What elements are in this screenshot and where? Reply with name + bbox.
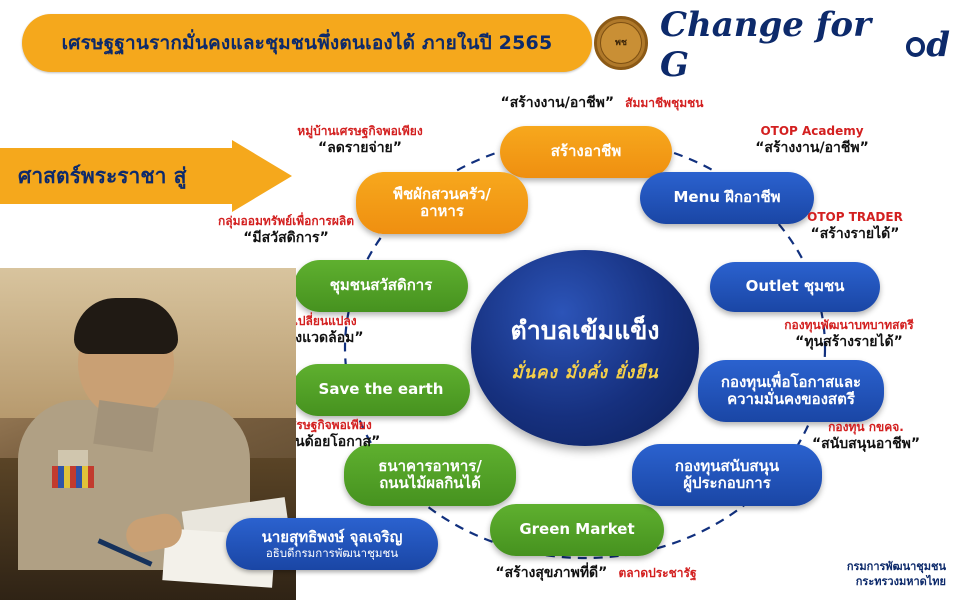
photo-collar (93, 400, 159, 452)
slogan-part-b: d (926, 25, 950, 65)
node-green-market[interactable]: Green Market (490, 504, 664, 556)
ann-reduce-expense: หมู่บ้านเศรษฐกิจพอเพียง “ลดรายจ่าย” (252, 124, 468, 157)
center-subtitle: มั่นคง มั่งคั่ง ยั่งยืน (511, 359, 658, 386)
ann-women-fund-red: กองทุนพัฒนาบทบาทสตรี (744, 318, 954, 333)
node-fund-support-entrepreneur[interactable]: กองทุนสนับสนุน ผู้ประกอบการ (632, 444, 822, 506)
ann-good-health-red: ตลาดประชารัฐ (618, 566, 696, 580)
slogan-part-a: Change for G (660, 5, 905, 85)
name-plate-position: อธิบดีกรมการพัฒนาชุมชน (266, 546, 398, 560)
node-outlet-community-label: Outlet ชุมชน (746, 278, 845, 295)
center-title: ตำบลเข้มแข็ง (511, 311, 660, 351)
node-food-bank[interactable]: ธนาคารอาหาร/ ถนนไม้ผลกินได้ (344, 444, 516, 506)
node-create-career[interactable]: สร้างอาชีพ (500, 126, 672, 178)
ann-good-health-black: “สร้างสุขภาพที่ดี” (495, 565, 607, 581)
node-food-bank-label: ธนาคารอาหาร/ ถนนไม้ผลกินได้ (378, 458, 482, 493)
ann-reduce-expense-red: หมู่บ้านเศรษฐกิจพอเพียง (252, 124, 468, 139)
node-outlet-community[interactable]: Outlet ชุมชน (710, 262, 880, 312)
footer-credit: กรมการพัฒนาชุมชน กระทรวงมหาดไทย (847, 560, 946, 590)
ann-good-health: “สร้างสุขภาพที่ดี” ตลาดประชารัฐ (446, 562, 746, 582)
ann-otop-trader-black: “สร้างรายได้” (760, 225, 950, 243)
ann-reduce-expense-black: “ลดรายจ่าย” (252, 139, 468, 157)
slogan-change-for-good: Change for Gd (660, 20, 950, 70)
photo-hair (74, 298, 178, 354)
ann-welfare-black: “มีสวัสดิการ” (176, 229, 396, 247)
footer-line-2: กระทรวงมหาดไทย (847, 575, 946, 590)
footer-line-1: กรมการพัฒนาชุมชน (847, 560, 946, 575)
ann-create-job-top-black: “สร้างงาน/อาชีพ” (501, 95, 615, 111)
header-banner: เศรษฐฐานรากมั่นคงและชุมชนพึ่งตนเองได้ ภา… (22, 14, 592, 72)
ann-women-fund-black: “ทุนสร้างรายได้” (744, 333, 954, 351)
ann-otop-academy: OTOP Academy “สร้างงาน/อาชีพ” (706, 124, 918, 157)
ann-create-job-top-red: สัมมาชีพชุมชน (625, 96, 703, 110)
ann-kor-thor-jor-red: กองทุน กขคจ. (778, 420, 954, 435)
ann-welfare-red: กลุ่มออมทรัพย์เพื่อการผลิต (176, 214, 396, 229)
ann-create-job-top: “สร้างงาน/อาชีพ” สัมมาชีพชุมชน (452, 92, 752, 112)
ann-otop-trader-red: OTOP TRADER (760, 210, 950, 225)
node-fund-support-entrepreneur-label: กองทุนสนับสนุน ผู้ประกอบการ (675, 458, 779, 493)
seal-inner-text: พช (600, 22, 642, 64)
ann-otop-academy-red: OTOP Academy (706, 124, 918, 139)
name-plate-name: นายสุทธิพงษ์ จุลเจริญ (262, 528, 403, 546)
node-vegetable-food-label: พืชผักสวนครัว/ อาหาร (393, 186, 491, 221)
department-seal-icon: พช (594, 16, 648, 70)
node-fund-opportunity[interactable]: กองทุนเพื่อโอกาสและ ความมั่นคงของสตรี (698, 360, 884, 422)
node-green-market-label: Green Market (519, 521, 634, 538)
photo-medal-ribbons (52, 466, 94, 488)
ann-otop-academy-black: “สร้างงาน/อาชีพ” (706, 139, 918, 157)
header-banner-text: เศรษฐฐานรากมั่นคงและชุมชนพึ่งตนเองได้ ภา… (62, 28, 553, 58)
node-fund-opportunity-label: กองทุนเพื่อโอกาสและ ความมั่นคงของสตรี (721, 374, 861, 409)
ann-kor-thor-jor-black: “สนับสนุนอาชีพ” (778, 435, 954, 453)
node-menu-training-label: Menu ฝึกอาชีพ (673, 189, 780, 206)
node-community-welfare-label: ชุมชนสวัสดิการ (330, 277, 433, 294)
node-community-welfare[interactable]: ชุมชนสวัสดิการ (294, 260, 468, 312)
ann-welfare: กลุ่มออมทรัพย์เพื่อการผลิต “มีสวัสดิการ” (176, 214, 396, 247)
ann-kor-thor-jor: กองทุน กขคจ. “สนับสนุนอาชีพ” (778, 420, 954, 453)
ann-women-fund: กองทุนพัฒนาบทบาทสตรี “ทุนสร้างรายได้” (744, 318, 954, 351)
node-save-the-earth-label: Save the earth (319, 381, 444, 398)
node-create-career-label: สร้างอาชีพ (551, 143, 621, 160)
ann-otop-trader: OTOP TRADER “สร้างรายได้” (760, 210, 950, 243)
left-arrow-label: ศาสตร์พระราชา สู่ (18, 158, 248, 194)
photo-name-badge (58, 450, 88, 466)
center-circle: ตำบลเข้มแข็ง มั่นคง มั่งคั่ง ยั่งยืน (471, 250, 699, 446)
node-save-the-earth[interactable]: Save the earth (292, 364, 470, 416)
name-plate: นายสุทธิพงษ์ จุลเจริญ อธิบดีกรมการพัฒนาช… (226, 518, 438, 570)
slogan-o-ring-icon (906, 37, 926, 57)
diagram-canvas: เศรษฐฐานรากมั่นคงและชุมชนพึ่งตนเองได้ ภา… (0, 0, 960, 600)
